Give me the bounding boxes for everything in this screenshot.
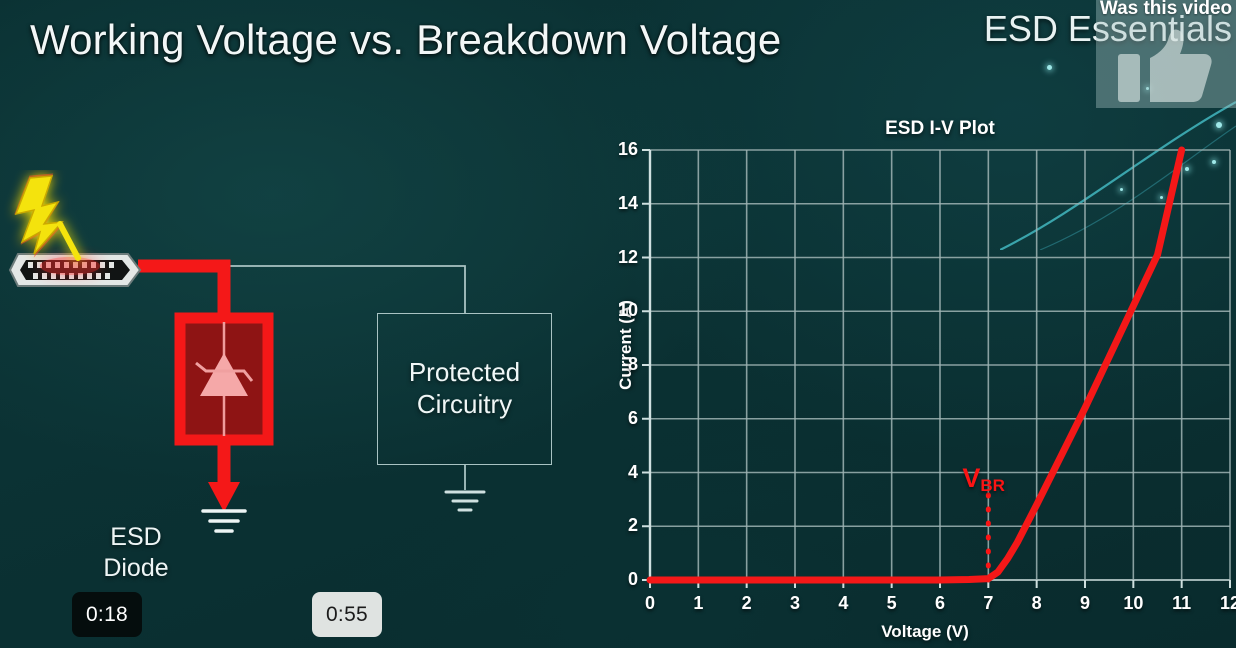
vbr-symbol: V [962, 463, 980, 493]
thumbs-up-icon[interactable] [1118, 28, 1214, 104]
lightning-bolt-icon [14, 173, 78, 258]
protected-label-line1: Protected [409, 357, 520, 389]
esd-current-trace [138, 266, 224, 318]
feedback-overlay-panel[interactable]: Was this video [1096, 0, 1236, 108]
chart-plot-area [585, 110, 1236, 648]
ground-icon [203, 511, 245, 531]
esd-iv-chart: ESD I-V Plot Current (A) Voltage (V) 024… [585, 110, 1236, 648]
page-title: Working Voltage vs. Breakdown Voltage [30, 16, 781, 64]
vbr-subscript: BR [980, 477, 1005, 496]
ground-icon [446, 492, 484, 510]
esd-diode-label: ESD Diode [88, 522, 184, 585]
protected-circuitry-block: Protected Circuitry [377, 313, 552, 465]
protected-circuitry-label: Protected Circuitry [378, 314, 551, 464]
feedback-prompt: Was this video [1100, 0, 1232, 20]
breakdown-voltage-annotation: VBR [962, 463, 1005, 496]
hdmi-connector-icon [10, 254, 140, 286]
bokeh-spark [1047, 65, 1052, 70]
timestamp-chip-inactive[interactable]: 0:55 [312, 592, 382, 637]
signal-wire [140, 266, 465, 313]
current-arrow-icon [208, 482, 240, 512]
esd-diode-label-line1: ESD [110, 523, 161, 551]
timestamp-chip-active[interactable]: 0:18 [72, 592, 142, 637]
esd-diode-label-line2: Diode [103, 554, 168, 582]
protected-label-line2: Circuitry [417, 389, 512, 421]
